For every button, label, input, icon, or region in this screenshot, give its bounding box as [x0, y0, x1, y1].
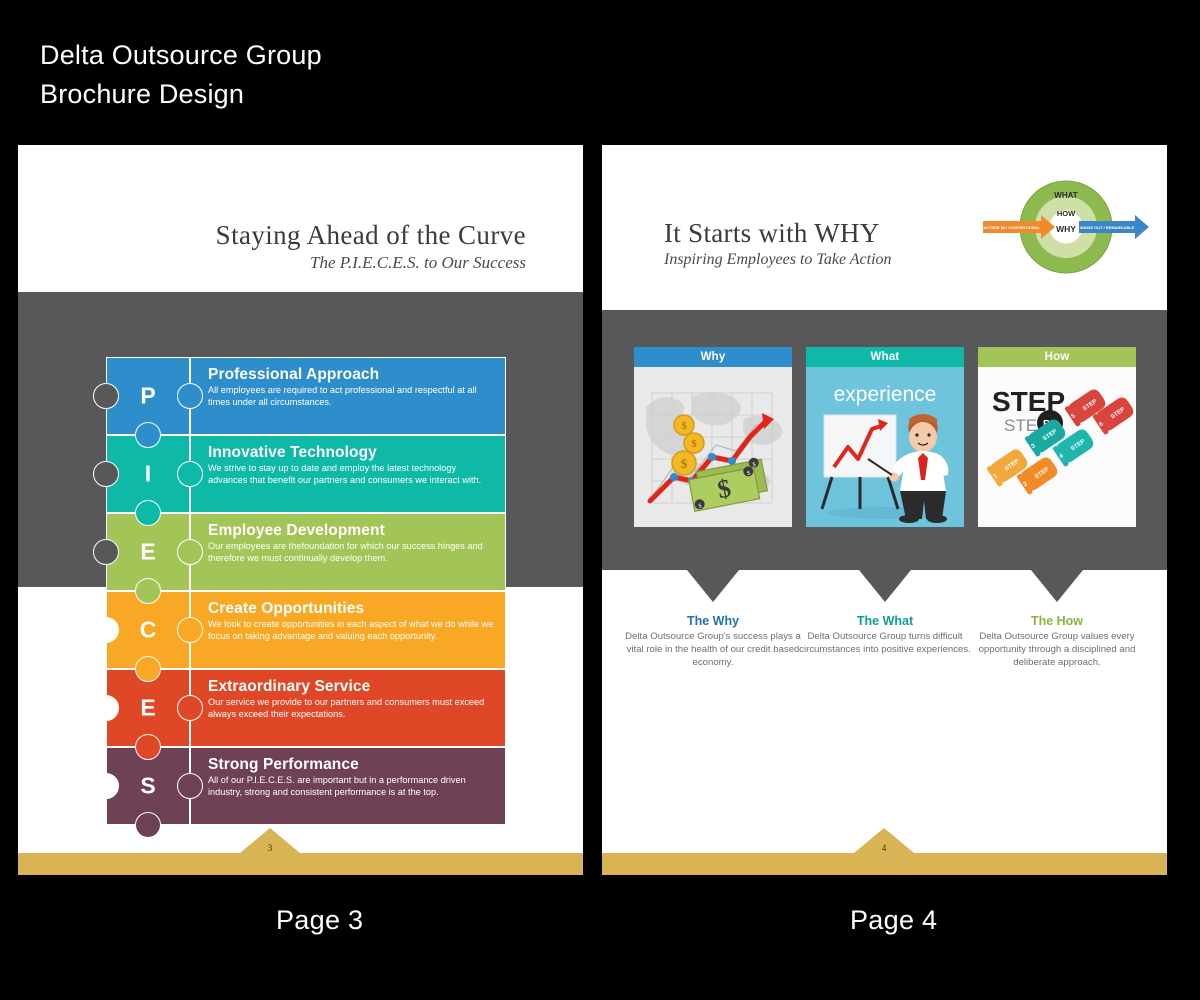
- puzzle-piece-description: We strive to stay up to date and employ …: [208, 463, 494, 487]
- svg-text:$: $: [681, 420, 687, 432]
- puzzle-body-cell: Extraordinary ServiceOur service we prov…: [190, 669, 506, 747]
- puzzle-piece-e-4: EExtraordinary ServiceOur service we pro…: [106, 669, 506, 747]
- page-4-preview[interactable]: It Starts with WHY Inspiring Employees t…: [602, 145, 1167, 875]
- page-4-footer-bar: [602, 853, 1167, 875]
- puzzle-piece-title: Strong Performance: [208, 756, 494, 774]
- puzzle-inner-notch: [177, 383, 203, 409]
- golden-circle-svg: WHAT HOW WHY OUTSIDE IN / CONVENTIONAL I…: [983, 177, 1149, 277]
- svg-text:INSIDE OUT / REMARKABLE: INSIDE OUT / REMARKABLE: [1080, 225, 1135, 230]
- puzzle-piece-title: Innovative Technology: [208, 444, 494, 462]
- puzzle-top-knob: [135, 578, 161, 604]
- deck-title-line2: Brochure Design: [40, 75, 322, 114]
- puzzle-text: Extraordinary ServiceOur service we prov…: [208, 678, 494, 721]
- puzzle-inner-notch: [177, 617, 203, 643]
- puzzle-inner-notch: [177, 461, 203, 487]
- page-3-footer-bar: [18, 853, 583, 875]
- caption-how: The HowDelta Outsource Group values ever…: [969, 614, 1145, 670]
- puzzle-piece-title: Create Opportunities: [208, 600, 494, 618]
- puzzle-inner-notch: [177, 695, 203, 721]
- page-3-subtitle: The P.I.E.C.E.S. to Our Success: [310, 253, 526, 273]
- puzzle-piece-title: Professional Approach: [208, 366, 494, 384]
- puzzle-left-notch: [93, 539, 119, 565]
- card-how[interactable]: How STEP STEP BY STEP 1 STEP 2 STEP: [978, 347, 1136, 527]
- puzzle-piece-description: We look to create opportunities in each …: [208, 619, 494, 643]
- experience-word: experience: [834, 383, 937, 406]
- card-pointer-how: [1031, 570, 1083, 602]
- caption-body: Delta Outsource Group's success plays a …: [625, 630, 801, 670]
- puzzle-top-knob: [135, 422, 161, 448]
- puzzle-inner-notch: [177, 539, 203, 565]
- puzzle-left-notch: [93, 695, 119, 721]
- svg-text:OUTSIDE IN / CONVENTIONAL: OUTSIDE IN / CONVENTIONAL: [983, 225, 1041, 230]
- step-by-step-footprints-illustration: STEP STEP BY STEP 1 STEP 2 STEP 3: [978, 367, 1136, 527]
- puzzle-piece-s-5: SStrong PerformanceAll of our P.I.E.C.E.…: [106, 747, 506, 825]
- businessman-presentation-illustration: experience: [806, 367, 964, 527]
- puzzle-top-knob: [135, 656, 161, 682]
- golden-inner-label: WHY: [1056, 224, 1076, 234]
- puzzle-piece-c-3: CCreate OpportunitiesWe look to create o…: [106, 591, 506, 669]
- caption-title: The What: [797, 614, 973, 628]
- page-3-preview[interactable]: Staying Ahead of the Curve The P.I.E.C.E…: [18, 145, 583, 875]
- golden-circle-diagram: WHAT HOW WHY OUTSIDE IN / CONVENTIONAL I…: [983, 177, 1149, 277]
- puzzle-piece-description: All of our P.I.E.C.E.S. are important bu…: [208, 775, 494, 799]
- caption-title: The How: [969, 614, 1145, 628]
- puzzle-body-cell: Professional ApproachAll employees are r…: [190, 357, 506, 435]
- step-by-step-footprints-illustration: STEP STEP BY STEP 1 STEP 2 STEP 3: [978, 367, 1136, 527]
- puzzle-bottom-knob: [135, 812, 161, 838]
- caption-title: The Why: [625, 614, 801, 628]
- svg-text:$: $: [691, 438, 697, 450]
- page-3-title: Staying Ahead of the Curve: [216, 220, 526, 251]
- deck-title: Delta Outsource Group Brochure Design: [40, 36, 322, 114]
- businessman-presentation-illustration: experience: [806, 367, 964, 527]
- golden-outer-label: WHAT: [1054, 191, 1078, 200]
- card-pointer-why: [687, 570, 739, 602]
- puzzle-left-notch: [93, 617, 119, 643]
- puzzle-piece-i-1: IInnovative TechnologyWe strive to stay …: [106, 435, 506, 513]
- puzzle-piece-p-0: PProfessional ApproachAll employees are …: [106, 357, 506, 435]
- page-4-caption: Page 4: [850, 905, 937, 936]
- puzzle-body-cell: Strong PerformanceAll of our P.I.E.C.E.S…: [190, 747, 506, 825]
- page-3-caption: Page 3: [276, 905, 363, 936]
- page-3-number: 3: [240, 843, 300, 853]
- svg-text:$: $: [681, 456, 688, 471]
- puzzle-piece-title: Extraordinary Service: [208, 678, 494, 696]
- puzzle-piece-description: Our employees are thefoundation for whic…: [208, 541, 494, 565]
- puzzle-text: Innovative TechnologyWe strive to stay u…: [208, 444, 494, 487]
- deck-title-line1: Delta Outsource Group: [40, 36, 322, 75]
- page-3-header: Staying Ahead of the Curve The P.I.E.C.E…: [18, 145, 583, 292]
- card-pointer-what: [859, 570, 911, 602]
- why-what-how-cards: Why $ $ $ $: [634, 347, 1136, 532]
- puzzle-body-cell: Employee DevelopmentOur employees are th…: [190, 513, 506, 591]
- puzzle-left-notch: [93, 773, 119, 799]
- puzzle-top-knob: [135, 500, 161, 526]
- puzzle-top-knob: [135, 734, 161, 760]
- outside-in-arrow: OUTSIDE IN / CONVENTIONAL: [983, 215, 1055, 239]
- puzzle-text: Employee DevelopmentOur employees are th…: [208, 522, 494, 565]
- puzzle-left-notch: [93, 461, 119, 487]
- caption-what: The WhatDelta Outsource Group turns diff…: [797, 614, 973, 656]
- caption-body: Delta Outsource Group turns difficult ci…: [797, 630, 973, 656]
- pieces-puzzle-diagram: PProfessional ApproachAll employees are …: [106, 357, 506, 825]
- card-header-how: How: [978, 347, 1136, 367]
- page-4-subtitle: Inspiring Employees to Take Action: [664, 251, 892, 269]
- puzzle-body-cell: Innovative TechnologyWe strive to stay u…: [190, 435, 506, 513]
- page-4-number: 4: [854, 843, 914, 853]
- puzzle-left-notch: [93, 383, 119, 409]
- golden-middle-label: HOW: [1057, 209, 1076, 218]
- puzzle-body-cell: Create OpportunitiesWe look to create op…: [190, 591, 506, 669]
- puzzle-piece-title: Employee Development: [208, 522, 494, 540]
- puzzle-text: Professional ApproachAll employees are r…: [208, 366, 494, 409]
- card-what[interactable]: What experience: [806, 347, 964, 527]
- caption-body: Delta Outsource Group values every oppor…: [969, 630, 1145, 670]
- caption-why: The WhyDelta Outsource Group's success p…: [625, 614, 801, 670]
- puzzle-piece-description: All employees are required to act profes…: [208, 385, 494, 409]
- growth-chart-money-illustration: $ $ $ $ $ $ $: [634, 367, 792, 527]
- growth-chart-money-illustration: $ $ $ $ $ $ $: [634, 367, 792, 527]
- card-header-what: What: [806, 347, 964, 367]
- card-header-why: Why: [634, 347, 792, 367]
- puzzle-text: Strong PerformanceAll of our P.I.E.C.E.S…: [208, 756, 494, 799]
- puzzle-piece-description: Our service we provide to our partners a…: [208, 697, 494, 721]
- puzzle-inner-notch: [177, 773, 203, 799]
- page-4-header: It Starts with WHY Inspiring Employees t…: [602, 145, 1167, 292]
- puzzle-piece-e-2: EEmployee DevelopmentOur employees are t…: [106, 513, 506, 591]
- page-4-title: It Starts with WHY: [664, 218, 880, 249]
- card-why[interactable]: Why $ $ $ $: [634, 347, 792, 527]
- puzzle-text: Create OpportunitiesWe look to create op…: [208, 600, 494, 643]
